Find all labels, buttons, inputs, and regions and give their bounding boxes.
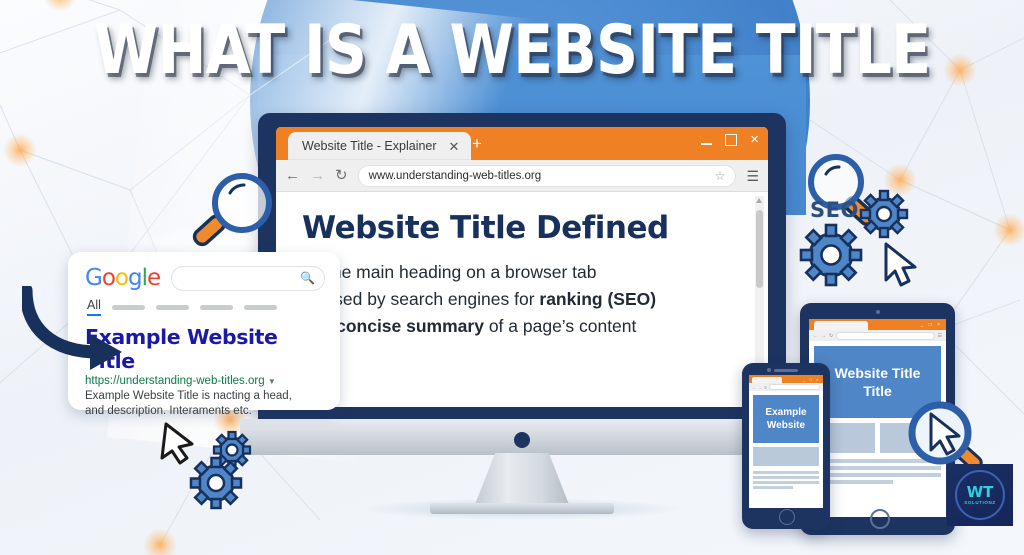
close-icon[interactable]: ✕ (449, 140, 460, 153)
tablet-hero-line2: Title (863, 383, 892, 399)
monitor-power-dot (514, 432, 530, 448)
phone-camera (767, 368, 771, 372)
phone-screen: _ □ × ← → ↻ Example Website (749, 375, 823, 508)
search-input[interactable]: 🔍 (171, 266, 325, 291)
browser-tab-label: Website Title - Explainer (302, 139, 437, 153)
magnifier-icon (180, 165, 290, 265)
phone-text-lines (753, 471, 819, 489)
forward-icon[interactable]: → (310, 168, 325, 183)
list-text-tail: of a page’s content (484, 316, 636, 336)
phone-hero-title: Example Website (753, 395, 819, 443)
phone-browser-toolbar: ← → ↻ (749, 383, 823, 391)
phone-home-button[interactable] (779, 509, 795, 525)
brand-logo[interactable]: WT SOLUTIONZ (947, 464, 1013, 526)
phone-browser-tab[interactable] (752, 377, 782, 384)
reload-icon[interactable]: ↻ (829, 333, 833, 339)
chevron-down-icon[interactable]: ▼ (268, 377, 276, 386)
tablet-browser-toolbar: ← → ↻ ☰ (809, 330, 946, 341)
text-line (753, 481, 819, 484)
browser-window: Website Title - Explainer ✕ + × ← → ↻ ww… (276, 127, 768, 407)
search-icon[interactable]: 🔍 (300, 271, 315, 285)
address-bar-url: www.understanding-web-titles.org (369, 170, 715, 182)
window-close-icon[interactable]: × (750, 135, 759, 145)
glow-node (3, 133, 37, 167)
list-text: The main heading on a browser tab (321, 262, 596, 282)
text-line (753, 476, 819, 479)
reload-icon[interactable]: ↻ (764, 385, 767, 390)
search-result-url: https://understanding-web-titles.org ▼ (85, 375, 325, 387)
phone-hero-line2: Website (767, 420, 805, 431)
tablet-window-controls[interactable]: _ □ × (921, 322, 943, 328)
phone-hero-line1: Example (765, 407, 806, 418)
list-text: Used by search engines for (321, 289, 539, 309)
back-icon[interactable]: ← (752, 385, 756, 390)
tab-placeholder[interactable] (200, 305, 233, 310)
logo-subtext: SOLUTIONZ (964, 500, 995, 505)
logo-mark: WT (967, 485, 994, 500)
snippet-line: Example Website Title is nacting a head, (85, 390, 292, 402)
glow-node (143, 528, 177, 555)
tablet-home-button[interactable] (870, 509, 890, 529)
gear-icon (798, 222, 864, 288)
list-item: 1. The main heading on a browser tab (302, 259, 742, 286)
tablet-hero-line1: Website Title (835, 365, 921, 381)
scrollbar-thumb[interactable] (756, 210, 763, 288)
tab-placeholder[interactable] (244, 305, 277, 310)
snippet-line: and description. Interaments etc. (85, 405, 252, 417)
phone-speaker (774, 369, 798, 372)
plus-icon[interactable]: + (472, 135, 482, 152)
tablet-camera (876, 310, 880, 314)
cursor-arrow-icon (880, 240, 922, 292)
logo-letter: e (147, 265, 160, 291)
menu-icon[interactable]: ☰ (746, 169, 759, 183)
logo-circle: WT SOLUTIONZ (955, 470, 1005, 520)
infographic-canvas: WHAT IS A WEBSITE TITLE Website Title - … (0, 0, 1024, 555)
monitor-stand-foot (430, 503, 614, 514)
forward-icon[interactable]: → (758, 385, 762, 390)
monitor-chin (240, 419, 804, 455)
result-url-text: https://understanding-web-titles.org (85, 375, 265, 387)
curved-arrow-icon (22, 286, 132, 372)
list-item: 2. Used by search engines for ranking (S… (302, 286, 742, 313)
browser-viewport: Website Title Defined 1. The main headin… (276, 192, 768, 407)
search-result-snippet: Example Website Title is nacting a head,… (85, 389, 325, 418)
address-bar[interactable]: www.understanding-web-titles.org ☆ (358, 165, 737, 187)
window-controls: × (701, 134, 759, 146)
forward-icon[interactable]: → (821, 333, 826, 339)
back-icon[interactable]: ← (813, 333, 818, 339)
list-item: 3. A concise summary of a page’s content (302, 313, 742, 340)
gear-icon (188, 455, 244, 511)
list-text-bold: concise summary (336, 316, 484, 336)
browser-titlebar: Website Title - Explainer ✕ + × (276, 127, 768, 160)
seo-label: SEO (810, 198, 859, 222)
tab-placeholder[interactable] (156, 305, 189, 310)
maximize-icon[interactable] (725, 134, 737, 146)
bookmark-star-icon[interactable]: ☆ (715, 169, 726, 183)
minimize-icon[interactable] (701, 143, 712, 145)
tablet-address-bar[interactable] (836, 332, 934, 340)
reload-icon[interactable]: ↻ (335, 168, 348, 183)
phone-browser-titlebar: _ □ × (749, 375, 823, 383)
text-line (753, 471, 819, 474)
browser-tab[interactable]: Website Title - Explainer ✕ (288, 132, 471, 160)
text-line (753, 486, 793, 489)
gear-icon (858, 188, 910, 240)
menu-icon[interactable]: ☰ (938, 333, 942, 339)
scroll-up-arrow-icon[interactable] (756, 198, 762, 203)
phone-device: _ □ × ← → ↻ Example Website (742, 363, 830, 529)
phone-window-controls[interactable]: _ □ × (803, 377, 820, 382)
content-heading: Website Title Defined (302, 210, 742, 246)
page-title: WHAT IS A WEBSITE TITLE (72, 14, 953, 88)
phone-content-block (753, 447, 819, 466)
list-text-bold: ranking (SEO) (539, 289, 656, 309)
glow-node (993, 213, 1024, 247)
tablet-browser-tab[interactable] (814, 321, 868, 330)
browser-toolbar: ← → ↻ www.understanding-web-titles.org ☆… (276, 160, 768, 192)
definition-list: 1. The main heading on a browser tab 2. … (302, 259, 742, 340)
tablet-browser-titlebar: _ □ × (809, 319, 946, 330)
phone-address-bar[interactable] (769, 384, 820, 391)
